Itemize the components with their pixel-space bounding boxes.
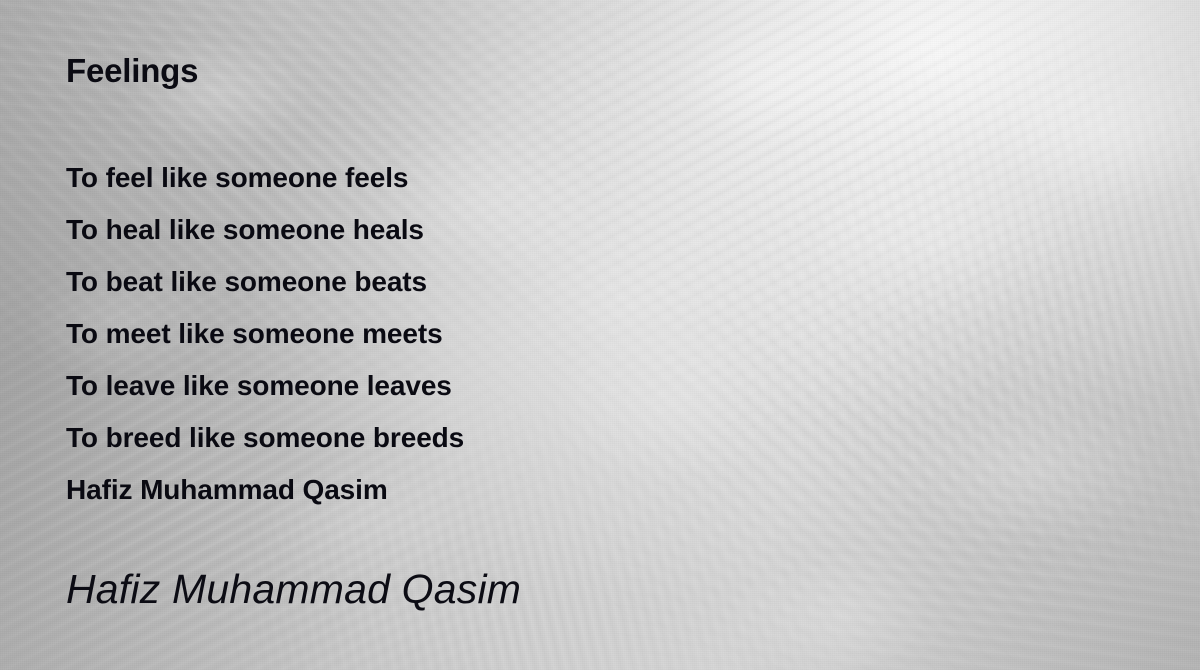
poem-line: To meet like someone meets [66, 308, 766, 360]
poem-line: To beat like someone beats [66, 256, 766, 308]
poem-title: Feelings [66, 52, 198, 90]
poem-line: To leave like someone leaves [66, 360, 766, 412]
poem-line: To breed like someone breeds [66, 412, 766, 464]
poem-line: To heal like someone heals [66, 204, 766, 256]
poem-content: Feelings To feel like someone feels To h… [0, 0, 1200, 670]
poem-author-line: Hafiz Muhammad Qasim [66, 464, 766, 516]
poem-line: To feel like someone feels [66, 152, 766, 204]
poem-author-signature: Hafiz Muhammad Qasim [66, 566, 521, 613]
poem-image-canvas: Feelings To feel like someone feels To h… [0, 0, 1200, 670]
poem-body: To feel like someone feels To heal like … [66, 152, 766, 516]
